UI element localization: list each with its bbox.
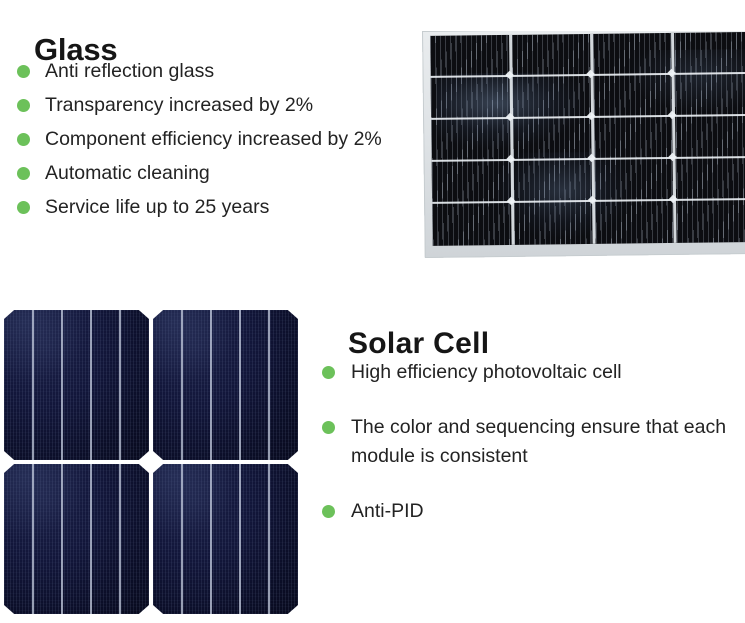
bullet-icon <box>17 99 30 112</box>
bullet-icon <box>322 505 335 518</box>
list-item: The color and sequencing ensure that eac… <box>322 413 737 471</box>
bullet-icon <box>17 201 30 214</box>
busbar <box>181 310 183 460</box>
glass-reflection <box>629 49 745 113</box>
busbar <box>210 310 212 460</box>
list-item-label: Automatic cleaning <box>45 158 417 188</box>
busbar <box>239 464 241 614</box>
list-item: Automatic cleaning <box>17 158 417 188</box>
bullet-icon <box>17 167 30 180</box>
bullet-icon <box>17 65 30 78</box>
bullet-icon <box>322 421 335 434</box>
cell-reflection <box>139 310 241 385</box>
busbar <box>32 310 34 460</box>
busbar <box>61 464 63 614</box>
cell-reflection <box>4 449 91 539</box>
bullet-icon <box>17 133 30 146</box>
busbar <box>90 310 92 460</box>
glass-feature-list: Anti reflection glass Transparency incre… <box>17 56 417 226</box>
busbar <box>119 464 121 614</box>
list-item: Component efficiency increased by 2% <box>17 124 417 154</box>
list-item: Anti-PID <box>322 497 737 526</box>
list-item-label: Service life up to 25 years <box>45 192 417 222</box>
busbar <box>268 310 270 460</box>
cell-reflection <box>4 310 91 385</box>
list-item-label: Transparency increased by 2% <box>45 90 417 120</box>
solar-cells-photo <box>4 310 298 614</box>
solar-cell <box>153 310 298 460</box>
busbar <box>119 310 121 460</box>
module-laminate <box>430 32 745 246</box>
solar-cell <box>4 310 149 460</box>
list-item: High efficiency photovoltaic cell <box>322 358 737 387</box>
list-item: Anti reflection glass <box>17 56 417 86</box>
busbar <box>210 464 212 614</box>
list-item-label: The color and sequencing ensure that eac… <box>351 413 737 471</box>
solar-panel-module-photo <box>419 31 745 259</box>
list-item-label: Anti reflection glass <box>45 56 417 86</box>
list-item: Service life up to 25 years <box>17 192 417 222</box>
list-item-label: High efficiency photovoltaic cell <box>351 358 737 387</box>
busbar <box>32 464 34 614</box>
glass-reflection <box>495 151 630 237</box>
module-frame <box>422 31 745 258</box>
busbar <box>239 310 241 460</box>
list-item: Transparency increased by 2% <box>17 90 417 120</box>
solar-cell <box>4 464 149 614</box>
bullet-icon <box>322 366 335 379</box>
busbar <box>268 464 270 614</box>
solar-cell <box>153 464 298 614</box>
solar-cell-feature-list: High efficiency photovoltaic cell The co… <box>322 358 737 552</box>
busbar <box>90 464 92 614</box>
busbar <box>61 310 63 460</box>
solar-cell-section-title: Solar Cell <box>348 326 489 362</box>
busbar <box>181 464 183 614</box>
infographic-canvas: Glass Anti reflection glass Transparency… <box>0 0 745 623</box>
list-item-label: Anti-PID <box>351 497 737 526</box>
list-item-label: Component efficiency increased by 2% <box>45 124 417 154</box>
